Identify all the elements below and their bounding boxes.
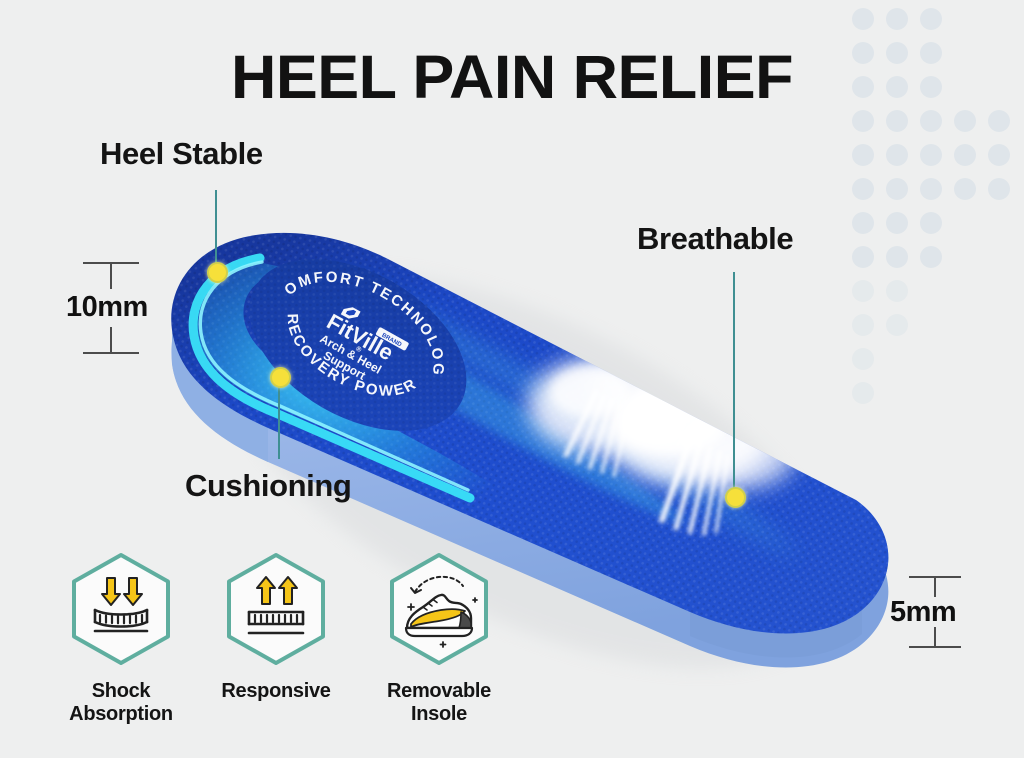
leader-line-heel-stable xyxy=(215,190,217,268)
feature-shock-absorption[interactable]: Shock Absorption xyxy=(36,552,206,726)
feature-list: Shock Absorption xyxy=(36,552,556,752)
leader-line-breathable xyxy=(733,272,735,490)
callout-label-breathable: Breathable xyxy=(637,221,793,257)
dimension-forefoot-thickness: 5mm xyxy=(909,576,961,648)
feature-removable-insole[interactable]: Removable Insole xyxy=(354,552,524,726)
shoe-insole-removal-icon xyxy=(387,552,491,666)
callout-label-cushioning: Cushioning xyxy=(185,468,351,504)
marker-dot-heel-stable xyxy=(207,262,228,283)
dimension-value-10mm: 10mm xyxy=(66,291,148,324)
down-arrows-cushion-icon xyxy=(69,552,173,666)
callout-label-heel-stable: Heel Stable xyxy=(100,136,263,172)
infographic-canvas: COMFORT TECHNOLOGY RECOVERY POWER BRAND … xyxy=(0,0,1024,758)
marker-dot-breathable xyxy=(725,487,746,508)
up-arrows-cushion-icon xyxy=(224,552,328,666)
feature-label-shock-absorption: Shock Absorption xyxy=(36,680,206,726)
feature-label-removable-insole: Removable Insole xyxy=(354,680,524,726)
feature-label-responsive: Responsive xyxy=(191,680,361,703)
marker-dot-cushioning xyxy=(270,367,291,388)
dimension-heel-thickness: 10mm xyxy=(83,262,139,354)
feature-responsive[interactable]: Responsive xyxy=(191,552,361,703)
dimension-value-5mm: 5mm xyxy=(890,596,956,629)
page-title: HEEL PAIN RELIEF xyxy=(0,42,1024,112)
